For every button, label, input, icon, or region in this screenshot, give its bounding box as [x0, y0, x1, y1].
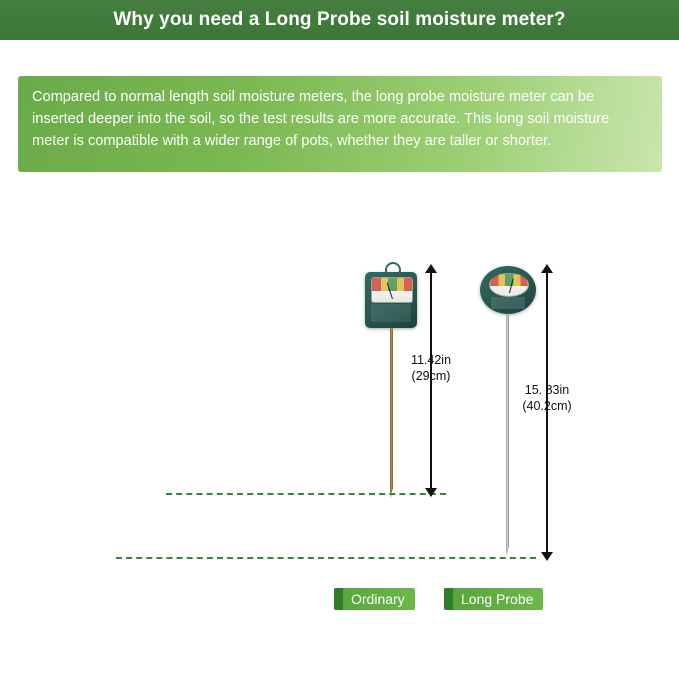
pot-soil [96, 315, 280, 335]
meter-dial [489, 273, 529, 297]
floor [0, 640, 679, 679]
meter-dial [371, 277, 413, 303]
page-title: Why you need a Long Probe soil moisture … [113, 9, 565, 31]
meter-head [480, 266, 536, 314]
pot-ground-shadow [60, 635, 310, 657]
chip-accent-bar [334, 588, 343, 610]
meter-faceplate [371, 304, 411, 322]
caption-long-probe-label: Long Probe [461, 591, 533, 607]
floor-wall-seam [0, 640, 679, 642]
guide-line-ordinary [166, 493, 446, 495]
pot-texture [78, 323, 298, 650]
arrow-head-up-icon [541, 264, 553, 273]
pot-rim [78, 311, 298, 341]
arrow-head-down-icon [541, 552, 553, 561]
description-text: Compared to normal length soil moisture … [32, 86, 648, 152]
dimension-value-inches: 15. 83in [512, 382, 582, 398]
caption-ordinary: Ordinary [334, 588, 415, 610]
arrow-head-down-icon [425, 488, 437, 497]
product-infographic: Why you need a Long Probe soil moisture … [0, 0, 679, 679]
floor-seam [430, 640, 431, 679]
caption-long-probe: Long Probe [444, 588, 543, 610]
dimension-value-cm: (40.2cm) [512, 398, 582, 414]
meter-faceplate [491, 297, 525, 309]
probe-tip [506, 548, 508, 556]
description-panel: Compared to normal length soil moisture … [18, 76, 662, 172]
floor-seam [150, 640, 151, 679]
flower-pot [78, 305, 298, 650]
pot-body [78, 323, 298, 650]
header-banner: Why you need a Long Probe soil moisture … [0, 0, 679, 40]
chip-accent-bar [444, 588, 453, 610]
ordinary-probe [390, 328, 393, 490]
dimension-value-inches: 11.42in [400, 352, 462, 368]
meter-head [365, 272, 417, 328]
caption-ordinary-label: Ordinary [351, 591, 405, 607]
arrow-head-up-icon [425, 264, 437, 273]
dimension-value-cm: (29cm) [400, 368, 462, 384]
long-probe [506, 314, 509, 548]
guide-line-long-probe [116, 557, 536, 559]
